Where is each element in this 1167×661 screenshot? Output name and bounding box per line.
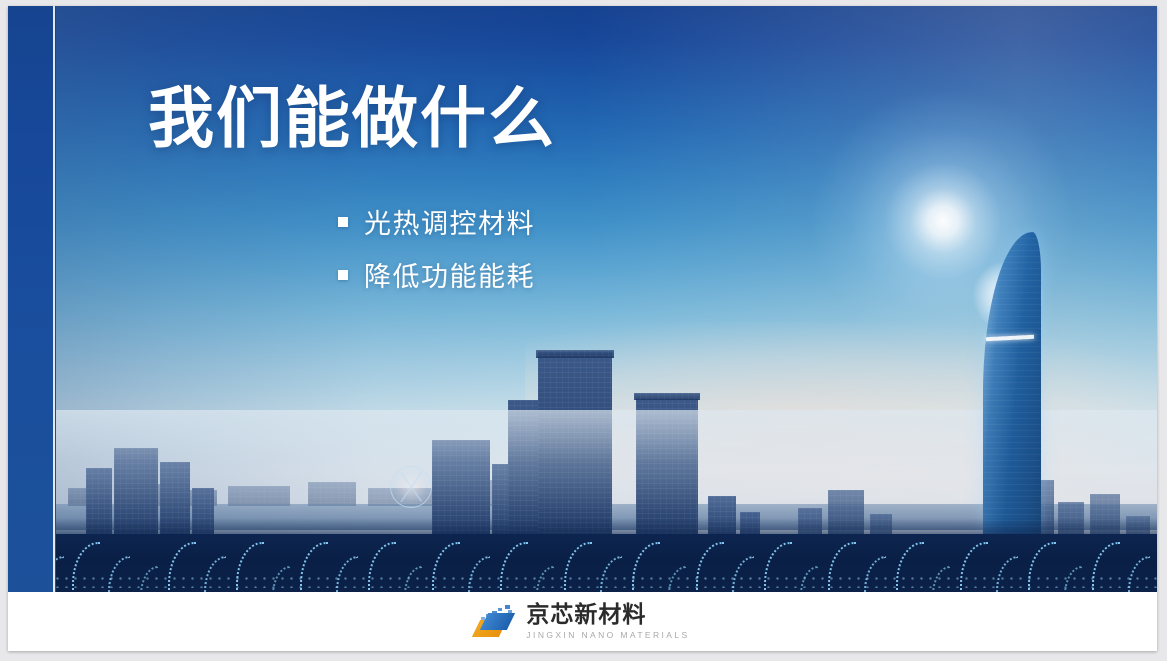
left-vertical-rule: [53, 6, 55, 592]
light-dot-row: [8, 574, 1157, 588]
page-title: 我们能做什么: [148, 84, 556, 153]
list-item-label: 光热调控材料: [364, 202, 535, 241]
pixel-parallelogram-logo-icon: [475, 605, 517, 639]
logo-name-cn: 京芯新材料: [526, 604, 689, 627]
logo-pixel: [498, 608, 502, 611]
slide-footer: 京芯新材料 JINGXIN NANO MATERIALS: [8, 592, 1157, 651]
square-bullet-icon: [338, 217, 348, 227]
company-logo: 京芯新材料 JINGXIN NANO MATERIALS: [475, 604, 689, 640]
slide-canvas: 我们能做什么 光热调控材料 降低功能能耗: [8, 6, 1157, 651]
hero-background-image: 我们能做什么 光热调控材料 降低功能能耗: [8, 6, 1157, 592]
left-accent-bar: [8, 6, 56, 592]
led-light-arcs: [8, 514, 1157, 592]
list-item-label: 降低功能能耗: [364, 255, 535, 294]
square-bullet-icon: [338, 270, 348, 280]
list-item: 光热调控材料: [338, 202, 535, 241]
logo-wordmark: 京芯新材料 JINGXIN NANO MATERIALS: [526, 604, 689, 640]
far-building: [308, 482, 356, 506]
list-item: 降低功能能耗: [338, 255, 535, 294]
secondary-tower-crown: [634, 393, 700, 400]
logo-pixel: [505, 605, 510, 609]
main-tower-crown: [536, 350, 614, 358]
ferris-wheel-icon: [390, 466, 432, 508]
logo-name-en: JINGXIN NANO MATERIALS: [526, 631, 689, 640]
far-building: [228, 486, 290, 506]
bullet-list: 光热调控材料 降低功能能耗: [338, 202, 535, 308]
